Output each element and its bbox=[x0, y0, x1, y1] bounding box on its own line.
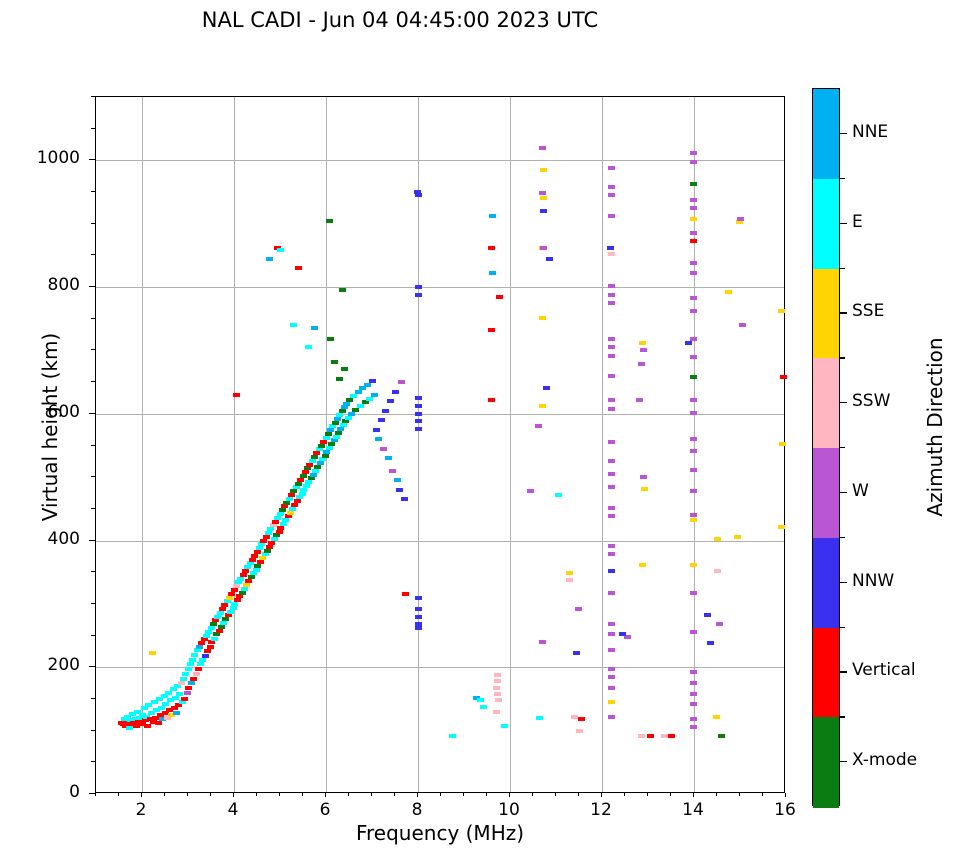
colorbar-boundary-tick bbox=[840, 627, 845, 628]
scatter-point bbox=[494, 692, 501, 696]
scatter-point bbox=[302, 470, 309, 474]
scatter-point bbox=[608, 506, 615, 510]
colorbar-label-nne: NNE bbox=[852, 122, 888, 142]
scatter-point bbox=[262, 552, 269, 556]
scatter-point bbox=[265, 531, 272, 535]
x-tick-minor bbox=[302, 793, 303, 796]
scatter-point bbox=[488, 328, 495, 332]
scatter-point bbox=[398, 380, 405, 384]
y-tick bbox=[89, 540, 95, 541]
scatter-point bbox=[608, 284, 615, 288]
y-tick-minor bbox=[91, 349, 95, 350]
page-title: NAL CADI - Jun 04 04:45:00 2023 UTC bbox=[0, 8, 800, 32]
x-tick-label: 8 bbox=[387, 800, 447, 820]
scatter-point bbox=[713, 715, 720, 719]
scatter-point bbox=[204, 649, 211, 653]
scatter-point bbox=[778, 525, 785, 529]
scatter-point bbox=[250, 571, 257, 575]
scatter-point bbox=[608, 675, 615, 679]
scatter-point bbox=[306, 463, 313, 467]
scatter-point bbox=[780, 375, 787, 379]
scatter-point bbox=[690, 489, 697, 493]
scatter-point bbox=[318, 444, 325, 448]
scatter-point bbox=[573, 651, 580, 655]
x-tick-minor bbox=[256, 793, 257, 796]
scatter-point bbox=[539, 404, 546, 408]
scatter-point bbox=[202, 654, 209, 658]
scatter-point bbox=[295, 482, 302, 486]
scatter-point bbox=[193, 672, 200, 676]
scatter-point bbox=[690, 670, 697, 674]
colorbar-segment[interactable] bbox=[813, 448, 839, 538]
scatter-point bbox=[266, 545, 273, 549]
scatter-point bbox=[311, 326, 318, 330]
scatter-point bbox=[539, 146, 546, 150]
colorbar-tick bbox=[840, 223, 847, 224]
scatter-point bbox=[293, 485, 300, 489]
scatter-point bbox=[339, 409, 346, 413]
colorbar-segment[interactable] bbox=[813, 717, 839, 807]
scatter-point bbox=[300, 474, 307, 478]
scatter-point bbox=[575, 607, 582, 611]
scatter-point bbox=[242, 569, 249, 573]
scatter-point bbox=[690, 563, 697, 567]
scatter-point bbox=[348, 412, 355, 416]
y-tick bbox=[89, 793, 95, 794]
scatter-point bbox=[214, 615, 221, 619]
scatter-point bbox=[288, 493, 295, 497]
scatter-point bbox=[690, 375, 697, 379]
scatter-point bbox=[415, 626, 422, 630]
scatter-point bbox=[489, 271, 496, 275]
scatter-point bbox=[222, 617, 229, 621]
y-tick-minor bbox=[91, 96, 95, 97]
scatter-point bbox=[690, 518, 697, 522]
scatter-point bbox=[690, 160, 697, 164]
scatter-point bbox=[299, 492, 306, 496]
colorbar-tick bbox=[840, 671, 847, 672]
scatter-point bbox=[331, 438, 338, 442]
scatter-point bbox=[555, 493, 562, 497]
scatter-point bbox=[267, 527, 274, 531]
scatter-point bbox=[734, 535, 741, 539]
scatter-point bbox=[608, 700, 615, 704]
y-tick-minor bbox=[91, 318, 95, 319]
scatter-point bbox=[285, 514, 292, 518]
scatter-point bbox=[218, 625, 225, 629]
scatter-point bbox=[310, 473, 317, 477]
scatter-point bbox=[576, 729, 583, 733]
scatter-point bbox=[690, 182, 697, 186]
y-tick-minor bbox=[91, 223, 95, 224]
x-tick bbox=[325, 793, 326, 797]
x-tick-minor bbox=[440, 793, 441, 796]
colorbar-boundary-tick bbox=[840, 447, 845, 448]
scatter-point bbox=[326, 219, 333, 223]
scatter-point bbox=[608, 293, 615, 297]
scatter-point bbox=[690, 411, 697, 415]
scatter-point bbox=[690, 449, 697, 453]
y-tick-label: 0 bbox=[10, 782, 80, 802]
scatter-point bbox=[540, 209, 547, 213]
scatter-point bbox=[203, 634, 210, 638]
x-tick-label: 6 bbox=[295, 800, 355, 820]
scatter-point bbox=[272, 520, 279, 524]
scatter-point bbox=[290, 489, 297, 493]
x-tick-minor bbox=[739, 793, 740, 796]
scatter-point bbox=[327, 337, 334, 341]
scatter-point bbox=[254, 564, 261, 568]
x-tick bbox=[509, 793, 510, 797]
scatter-point bbox=[690, 309, 697, 313]
scatter-point bbox=[235, 580, 242, 584]
scatter-point bbox=[608, 648, 615, 652]
scatter-point bbox=[373, 428, 380, 432]
scatter-point bbox=[176, 692, 183, 696]
scatter-point bbox=[144, 724, 151, 728]
scatter-point bbox=[392, 390, 399, 394]
x-tick-minor bbox=[394, 793, 395, 796]
x-tick-minor bbox=[578, 793, 579, 796]
colorbar-segment[interactable] bbox=[813, 89, 839, 179]
scatter-point bbox=[415, 285, 422, 289]
scatter-point bbox=[263, 535, 270, 539]
scatter-point bbox=[211, 637, 218, 641]
x-tick-minor bbox=[716, 793, 717, 796]
scatter-point bbox=[196, 645, 203, 649]
colorbar-segment[interactable] bbox=[813, 269, 839, 359]
scatter-point bbox=[639, 563, 646, 567]
scatter-point bbox=[342, 419, 349, 423]
x-tick bbox=[417, 793, 418, 797]
x-tick-minor bbox=[532, 793, 533, 796]
scatter-point bbox=[739, 323, 746, 327]
scatter-point bbox=[126, 726, 133, 730]
scatter-point bbox=[641, 487, 648, 491]
x-tick-minor bbox=[463, 793, 464, 796]
scatter-point bbox=[415, 427, 422, 431]
scatter-point bbox=[716, 622, 723, 626]
scatter-point bbox=[233, 393, 240, 397]
colorbar-label-x-mode: X-mode bbox=[852, 750, 917, 770]
scatter-point bbox=[382, 409, 389, 413]
scatter-point bbox=[173, 711, 180, 715]
scatter-point bbox=[690, 398, 697, 402]
scatter-point bbox=[608, 622, 615, 626]
scatter-point bbox=[308, 476, 315, 480]
scatter-point bbox=[319, 457, 326, 461]
scatter-point bbox=[277, 526, 284, 530]
scatter-point bbox=[339, 288, 346, 292]
scatter-point bbox=[493, 710, 500, 714]
scatter-point bbox=[191, 653, 198, 657]
scatter-point bbox=[690, 151, 697, 155]
scatter-point bbox=[690, 355, 697, 359]
scatter-point bbox=[325, 432, 332, 436]
scatter-point bbox=[607, 246, 614, 250]
x-tick-minor bbox=[762, 793, 763, 796]
scatter-point bbox=[312, 469, 319, 473]
scatter-point bbox=[501, 724, 508, 728]
x-tick-label: 12 bbox=[571, 800, 631, 820]
scatter-point bbox=[639, 341, 646, 345]
scatter-point bbox=[256, 546, 263, 550]
x-tick-minor bbox=[647, 793, 648, 796]
scatter-point bbox=[333, 435, 340, 439]
scatter-point bbox=[185, 667, 192, 671]
scatter-point bbox=[364, 383, 371, 387]
scatter-point bbox=[608, 591, 615, 595]
scatter-point bbox=[245, 579, 252, 583]
scatter-point bbox=[527, 489, 534, 493]
scatter-point bbox=[340, 423, 347, 427]
scatter-point bbox=[690, 271, 697, 275]
scatter-point bbox=[496, 295, 503, 299]
scatter-point bbox=[608, 398, 615, 402]
y-tick bbox=[89, 666, 95, 667]
scatter-point bbox=[488, 398, 495, 402]
scatter-point bbox=[608, 345, 615, 349]
colorbar[interactable] bbox=[812, 88, 840, 806]
scatter-point bbox=[270, 523, 277, 527]
colorbar-segment[interactable] bbox=[813, 538, 839, 628]
scatter-point bbox=[647, 734, 654, 738]
scatter-point bbox=[185, 686, 192, 690]
scatter-point bbox=[690, 231, 697, 235]
scatter-point bbox=[350, 394, 357, 398]
scatter-point bbox=[320, 440, 327, 444]
scatter-point bbox=[402, 592, 409, 596]
scatter-point bbox=[241, 587, 248, 591]
scatter-point bbox=[357, 404, 364, 408]
scatter-point bbox=[608, 166, 615, 170]
colorbar-label-sse: SSE bbox=[852, 301, 884, 321]
scatter-point bbox=[197, 662, 204, 666]
colorbar-segment[interactable] bbox=[813, 628, 839, 718]
scatter-point bbox=[488, 246, 495, 250]
scatter-point bbox=[328, 442, 335, 446]
scatter-point bbox=[210, 622, 217, 626]
scatter-point bbox=[226, 596, 233, 600]
scatter-point bbox=[305, 345, 312, 349]
y-tick-minor bbox=[91, 730, 95, 731]
scatter-point bbox=[608, 544, 615, 548]
scatter-point bbox=[690, 217, 697, 221]
scatter-point bbox=[690, 239, 697, 243]
plot-area[interactable] bbox=[95, 96, 785, 793]
scatter-point bbox=[336, 413, 343, 417]
scatter-point bbox=[690, 681, 697, 685]
colorbar-tick bbox=[840, 312, 847, 313]
y-tick-minor bbox=[91, 476, 95, 477]
scatter-point bbox=[369, 379, 376, 383]
x-tick-minor bbox=[624, 793, 625, 796]
scatter-point bbox=[415, 412, 422, 416]
scatter-point bbox=[201, 637, 208, 641]
scatter-point bbox=[282, 518, 289, 522]
scatter-data-layer bbox=[96, 97, 784, 792]
scatter-point bbox=[221, 603, 228, 607]
scatter-point bbox=[281, 504, 288, 508]
scatter-point bbox=[331, 360, 338, 364]
y-tick-minor bbox=[91, 761, 95, 762]
scatter-point bbox=[317, 461, 324, 465]
scatter-point bbox=[274, 516, 281, 520]
scatter-point bbox=[690, 261, 697, 265]
scatter-point bbox=[661, 734, 668, 738]
scatter-point bbox=[231, 588, 238, 592]
scatter-point bbox=[236, 594, 243, 598]
scatter-point bbox=[690, 717, 697, 721]
scatter-point bbox=[536, 716, 543, 720]
scatter-point bbox=[187, 662, 194, 666]
scatter-point bbox=[205, 630, 212, 634]
x-tick bbox=[601, 793, 602, 797]
scatter-point bbox=[260, 539, 267, 543]
scatter-point bbox=[608, 485, 615, 489]
scatter-point bbox=[258, 542, 265, 546]
scatter-point bbox=[477, 698, 484, 702]
x-tick-minor bbox=[279, 793, 280, 796]
x-tick bbox=[233, 793, 234, 797]
scatter-point bbox=[327, 428, 334, 432]
scatter-point bbox=[385, 456, 392, 460]
scatter-point bbox=[268, 541, 275, 545]
scatter-point bbox=[394, 478, 401, 482]
scatter-point bbox=[195, 667, 202, 671]
scatter-point bbox=[251, 554, 258, 558]
scatter-point bbox=[264, 549, 271, 553]
colorbar-segment[interactable] bbox=[813, 358, 839, 448]
scatter-point bbox=[779, 442, 786, 446]
scatter-point bbox=[608, 407, 615, 411]
scatter-point bbox=[543, 386, 550, 390]
scatter-point bbox=[608, 552, 615, 556]
scatter-point bbox=[190, 677, 197, 681]
scatter-point bbox=[329, 424, 336, 428]
scatter-point bbox=[309, 459, 316, 463]
x-tick-label: 16 bbox=[755, 800, 815, 820]
scatter-point bbox=[640, 475, 647, 479]
scatter-point bbox=[277, 248, 284, 252]
scatter-point bbox=[149, 651, 156, 655]
scatter-point bbox=[220, 621, 227, 625]
scatter-point bbox=[608, 252, 615, 256]
scatter-point bbox=[296, 495, 303, 499]
scatter-point bbox=[690, 296, 697, 300]
scatter-point bbox=[199, 658, 206, 662]
scatter-point bbox=[449, 734, 456, 738]
scatter-point bbox=[608, 715, 615, 719]
scatter-point bbox=[566, 571, 573, 575]
scatter-point bbox=[690, 513, 697, 517]
scatter-point bbox=[714, 569, 721, 573]
colorbar-tick bbox=[840, 492, 847, 493]
scatter-point bbox=[343, 402, 350, 406]
scatter-point bbox=[493, 686, 500, 690]
scatter-point bbox=[401, 497, 408, 501]
x-tick-minor bbox=[164, 793, 165, 796]
scatter-point bbox=[181, 697, 188, 701]
y-tick-minor bbox=[91, 191, 95, 192]
colorbar-label-e: E bbox=[852, 212, 863, 232]
colorbar-segment[interactable] bbox=[813, 179, 839, 269]
scatter-point bbox=[608, 440, 615, 444]
y-tick-minor bbox=[91, 128, 95, 129]
ionogram-figure: NAL CADI - Jun 04 04:45:00 2023 UTC 2468… bbox=[0, 0, 958, 857]
scatter-point bbox=[495, 698, 502, 702]
scatter-point bbox=[380, 447, 387, 451]
scatter-point bbox=[304, 466, 311, 470]
scatter-point bbox=[539, 316, 546, 320]
scatter-point bbox=[535, 424, 542, 428]
scatter-point bbox=[539, 640, 546, 644]
scatter-point bbox=[224, 599, 231, 603]
scatter-point bbox=[352, 408, 359, 412]
scatter-point bbox=[208, 626, 215, 630]
scatter-point bbox=[234, 598, 241, 602]
scatter-point bbox=[690, 198, 697, 202]
scatter-point bbox=[290, 323, 297, 327]
scatter-point bbox=[162, 702, 169, 706]
y-tick-minor bbox=[91, 698, 95, 699]
scatter-point bbox=[216, 629, 223, 633]
scatter-point bbox=[608, 214, 615, 218]
scatter-point bbox=[737, 217, 744, 221]
scatter-point bbox=[291, 503, 298, 507]
scatter-point bbox=[172, 696, 179, 700]
scatter-point bbox=[714, 537, 721, 541]
scatter-point bbox=[415, 596, 422, 600]
scatter-point bbox=[341, 367, 348, 371]
scatter-point bbox=[608, 686, 615, 690]
scatter-point bbox=[184, 691, 191, 695]
colorbar-title: Azimuth Direction bbox=[923, 77, 947, 777]
scatter-point bbox=[608, 301, 615, 305]
y-tick-minor bbox=[91, 381, 95, 382]
scatter-point bbox=[314, 465, 321, 469]
scatter-point bbox=[240, 573, 247, 577]
scatter-point bbox=[608, 667, 615, 671]
scatter-point bbox=[219, 607, 226, 611]
colorbar-boundary-tick bbox=[840, 716, 845, 717]
scatter-point bbox=[158, 706, 165, 710]
scatter-point bbox=[294, 499, 301, 503]
scatter-point bbox=[228, 592, 235, 596]
scatter-point bbox=[707, 641, 714, 645]
scatter-point bbox=[415, 615, 422, 619]
scatter-point bbox=[279, 508, 286, 512]
scatter-point bbox=[280, 522, 287, 526]
x-tick bbox=[693, 793, 694, 797]
scatter-point bbox=[180, 677, 187, 681]
scatter-point bbox=[608, 569, 615, 573]
scatter-point bbox=[334, 417, 341, 421]
scatter-point bbox=[303, 484, 310, 488]
scatter-point bbox=[366, 397, 373, 401]
x-axis-title: Frequency (MHz) bbox=[95, 821, 785, 845]
scatter-point bbox=[494, 679, 501, 683]
y-tick bbox=[89, 159, 95, 160]
scatter-point bbox=[189, 658, 196, 662]
scatter-point bbox=[387, 399, 394, 403]
scatter-point bbox=[636, 398, 643, 402]
scatter-point bbox=[608, 193, 615, 197]
scatter-point bbox=[244, 565, 251, 569]
x-tick-minor bbox=[210, 793, 211, 796]
scatter-point bbox=[389, 469, 396, 473]
scatter-point bbox=[480, 705, 487, 709]
